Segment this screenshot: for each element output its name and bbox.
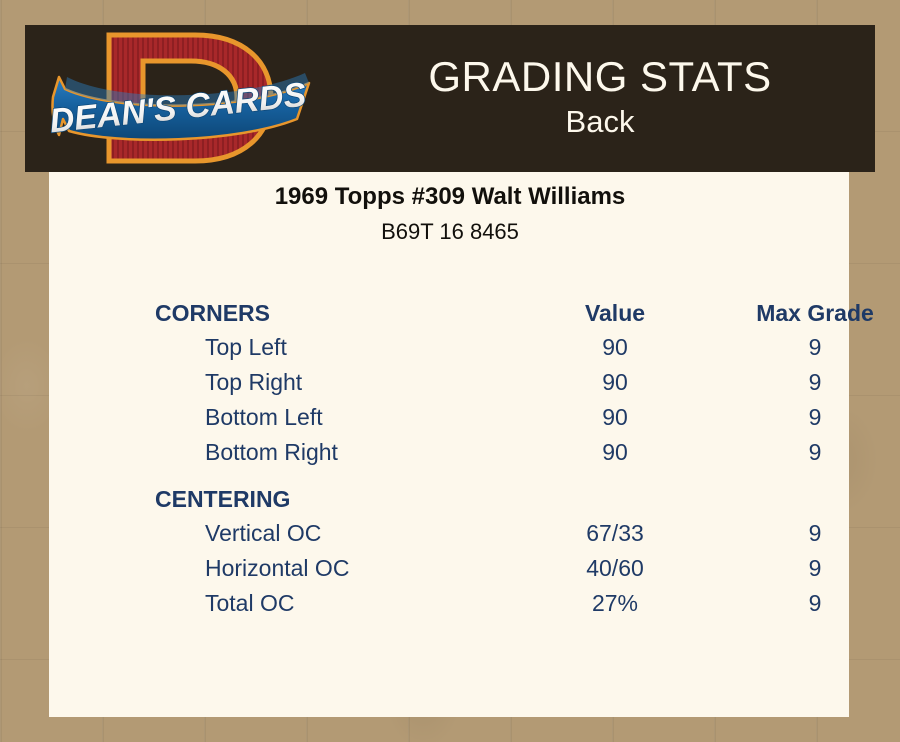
table-row-max-grade: 9 bbox=[715, 400, 900, 435]
table-row-value: 40/60 bbox=[515, 551, 715, 586]
column-header-max-grade: Max Grade bbox=[715, 300, 900, 330]
table-row-max-grade: 9 bbox=[715, 330, 900, 365]
table-row-max-grade: 9 bbox=[715, 586, 900, 621]
section-header-centering: CENTERING bbox=[155, 486, 515, 516]
deans-cards-logo: DEAN'S CARDS bbox=[47, 27, 315, 170]
table-row-label: Bottom Right bbox=[155, 435, 515, 470]
header-titles: GRADING STATS Back bbox=[325, 25, 875, 172]
page-title: GRADING STATS bbox=[428, 55, 771, 99]
table-row-max-grade: 9 bbox=[715, 516, 900, 551]
column-header-max-grade bbox=[715, 486, 900, 516]
card-title: 1969 Topps #309 Walt Williams bbox=[0, 182, 900, 212]
column-header-value bbox=[515, 486, 715, 516]
table-row-label: Vertical OC bbox=[155, 516, 515, 551]
table-row-label: Top Left bbox=[155, 330, 515, 365]
table-row-value: 90 bbox=[515, 435, 715, 470]
table-row-label: Top Right bbox=[155, 365, 515, 400]
table-row-max-grade: 9 bbox=[715, 551, 900, 586]
stats-grid: CORNERSValueMax GradeTop Left909Top Righ… bbox=[155, 300, 849, 621]
card-identity: 1969 Topps #309 Walt Williams B69T 16 84… bbox=[0, 182, 900, 246]
table-row-label: Total OC bbox=[155, 586, 515, 621]
section-header-corners: CORNERS bbox=[155, 300, 515, 330]
table-row-max-grade: 9 bbox=[715, 365, 900, 400]
table-row-label: Bottom Left bbox=[155, 400, 515, 435]
card-code: B69T 16 8465 bbox=[0, 218, 900, 246]
section-gap bbox=[155, 470, 900, 486]
table-row-value: 90 bbox=[515, 330, 715, 365]
header-bar: DEAN'S CARDS GRADING STATS Back bbox=[25, 25, 875, 172]
table-row-value: 67/33 bbox=[515, 516, 715, 551]
table-row-label: Horizontal OC bbox=[155, 551, 515, 586]
table-row-value: 90 bbox=[515, 400, 715, 435]
table-row-max-grade: 9 bbox=[715, 435, 900, 470]
column-header-value: Value bbox=[515, 300, 715, 330]
table-row-value: 27% bbox=[515, 586, 715, 621]
grading-stats-table: CORNERSValueMax GradeTop Left909Top Righ… bbox=[49, 300, 849, 621]
page-subtitle: Back bbox=[566, 103, 635, 142]
table-row-value: 90 bbox=[515, 365, 715, 400]
